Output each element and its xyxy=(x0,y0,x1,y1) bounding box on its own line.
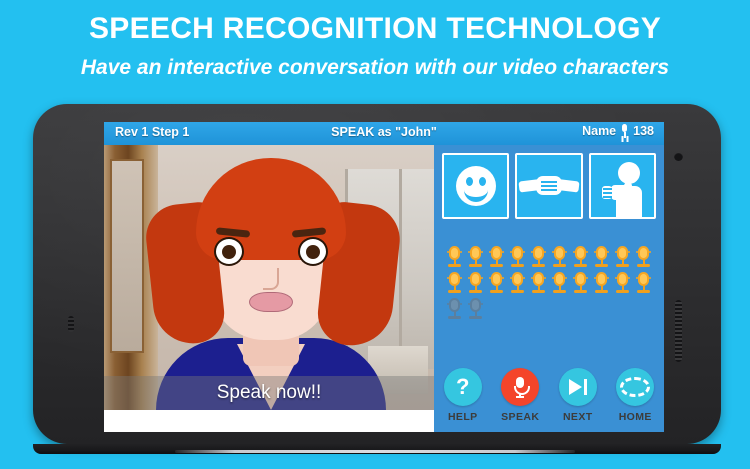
speak-button-label: SPEAK xyxy=(495,411,545,423)
person-thumb xyxy=(624,182,632,190)
microphone-icon xyxy=(514,377,526,397)
handshake-finger-2 xyxy=(541,185,557,187)
speak-button[interactable]: SPEAK xyxy=(495,368,545,423)
skip-next-icon xyxy=(569,379,587,395)
smiley-face-icon xyxy=(456,166,496,206)
microphone-icon-active xyxy=(633,271,654,296)
character-pupil-right xyxy=(306,245,320,259)
microphone-icon-active xyxy=(612,245,633,270)
front-camera-icon xyxy=(674,152,683,161)
person-finger-line-2 xyxy=(603,192,612,194)
microphone-icon-active xyxy=(528,245,549,270)
home-button[interactable]: HOME xyxy=(610,368,660,423)
phone-screen: Rev 1 Step 1 SPEAK as "John" Name 138 xyxy=(104,122,664,432)
microphone-icon-active xyxy=(444,271,465,296)
microphone-icon-active xyxy=(591,245,612,270)
microphone-meter-row xyxy=(444,271,656,297)
handshake-finger-3 xyxy=(541,189,557,191)
microphone-icon-active xyxy=(570,271,591,296)
handshake-icon xyxy=(519,171,579,201)
person-finger-line-3 xyxy=(603,196,612,198)
microphone-icon-inactive xyxy=(444,297,465,322)
video-caption-bar: Speak now!! xyxy=(104,376,434,410)
microphone-icon-active xyxy=(465,245,486,270)
microphone-icon-active xyxy=(570,245,591,270)
character-eye-right xyxy=(298,237,328,266)
video-character xyxy=(142,160,400,410)
person-waving-icon xyxy=(591,155,654,217)
control-panel: ? HELP SPEAK xyxy=(434,145,664,432)
microphone-icon-active xyxy=(591,271,612,296)
microphone-icon-active xyxy=(528,271,549,296)
action-button-row: ? HELP SPEAK xyxy=(434,366,664,432)
character-nose xyxy=(263,268,279,290)
status-step-label: Rev 1 Step 1 xyxy=(115,125,189,139)
microphone-icon-active xyxy=(507,271,528,296)
microphone-foot xyxy=(516,396,524,398)
microphone-meter-row xyxy=(444,297,656,323)
video-player[interactable]: Speak now!! xyxy=(104,145,434,410)
skip-next-triangle xyxy=(569,379,582,395)
scene-door-panel xyxy=(110,159,144,353)
next-button[interactable]: NEXT xyxy=(553,368,603,423)
status-speak-as-label: SPEAK as "John" xyxy=(331,125,437,139)
microphone-icon xyxy=(621,124,628,138)
tile-handshake[interactable] xyxy=(515,153,582,219)
phone-stand-highlight xyxy=(175,450,575,453)
microphone-score-meter xyxy=(444,245,656,323)
microphone-icon-inactive xyxy=(465,297,486,322)
help-button-label: HELP xyxy=(438,411,488,423)
microphone-icon-active xyxy=(486,271,507,296)
promo-header: SPEECH RECOGNITION TECHNOLOGY Have an in… xyxy=(0,0,750,100)
video-bottom-spacer xyxy=(104,410,434,432)
microphone-meter-row xyxy=(444,245,656,271)
handshake-finger-1 xyxy=(541,181,557,183)
help-button-circle[interactable]: ? xyxy=(444,368,482,406)
microphone-icon-active xyxy=(633,245,654,270)
character-eye-left xyxy=(214,237,244,266)
speak-button-circle[interactable] xyxy=(501,368,539,406)
smiley-mouth xyxy=(464,184,488,202)
person-finger-line-1 xyxy=(603,188,612,190)
status-score-value: 138 xyxy=(633,124,654,138)
microphone-icon-active xyxy=(549,271,570,296)
status-name-label: Name xyxy=(582,124,616,138)
device-microphone-hole xyxy=(68,316,74,332)
next-button-label: NEXT xyxy=(553,411,603,423)
app-body: Speak now!! xyxy=(104,145,664,432)
tile-row xyxy=(442,153,656,219)
home-button-label: HOME xyxy=(610,411,660,423)
skip-next-bar xyxy=(584,379,587,395)
microphone-icon-active xyxy=(444,245,465,270)
promo-subtitle: Have an interactive conversation with ou… xyxy=(0,46,750,80)
character-mouth xyxy=(249,292,293,312)
microphone-icon-active xyxy=(486,245,507,270)
status-score-group: Name 138 xyxy=(582,124,654,138)
tile-smiley[interactable] xyxy=(442,153,509,219)
tile-person-waving[interactable] xyxy=(589,153,656,219)
character-pupil-left xyxy=(222,245,236,259)
help-button[interactable]: ? HELP xyxy=(438,368,488,423)
app-status-bar: Rev 1 Step 1 SPEAK as "John" Name 138 xyxy=(104,122,664,145)
video-caption-text: Speak now!! xyxy=(217,382,322,404)
microphone-icon-active xyxy=(465,271,486,296)
phone-device: Rev 1 Step 1 SPEAK as "John" Name 138 xyxy=(33,104,721,444)
speaker-grille xyxy=(675,300,682,362)
microphone-icon-active xyxy=(612,271,633,296)
promo-title: SPEECH RECOGNITION TECHNOLOGY xyxy=(0,0,750,46)
microphone-icon-active xyxy=(549,245,570,270)
microphone-icon-active xyxy=(507,245,528,270)
question-mark-icon: ? xyxy=(456,376,469,398)
person-head xyxy=(618,162,640,184)
dashed-oval-icon xyxy=(620,377,650,397)
home-button-circle[interactable] xyxy=(616,368,654,406)
next-button-circle[interactable] xyxy=(559,368,597,406)
